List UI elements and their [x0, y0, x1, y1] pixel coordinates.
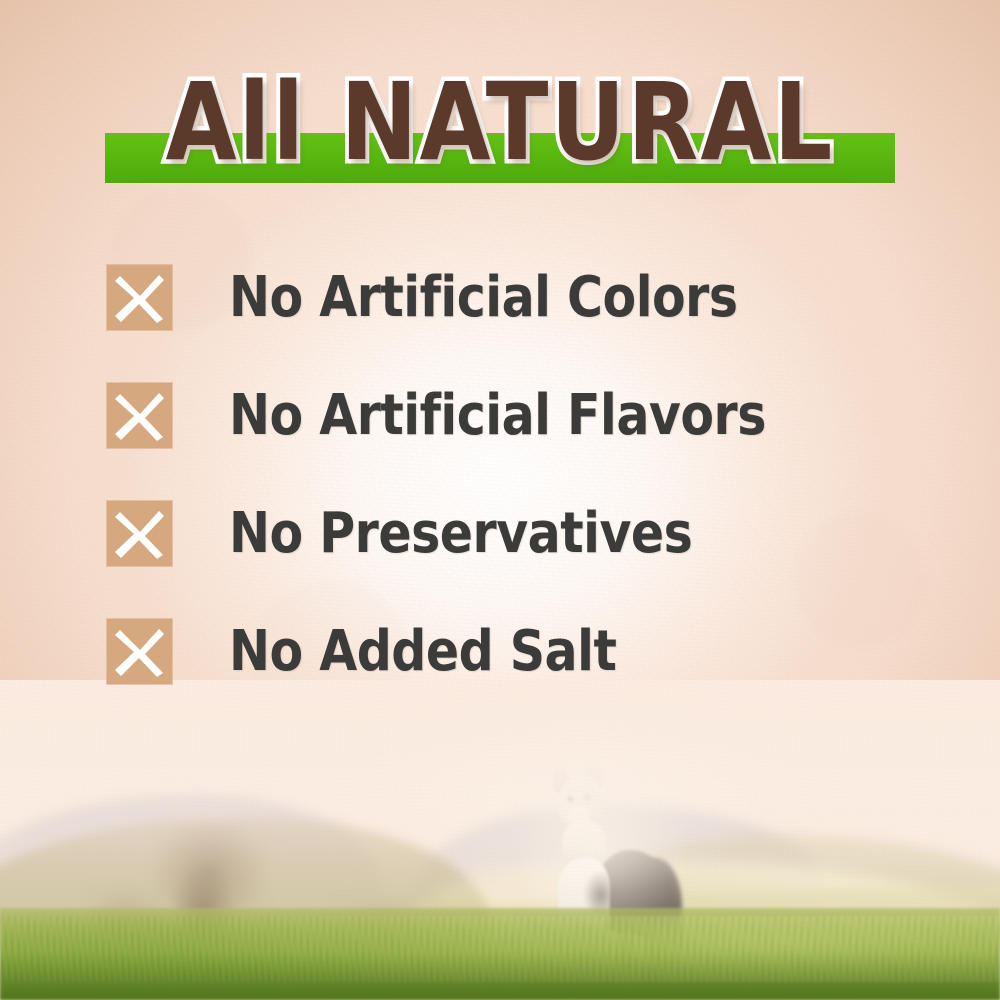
product-feature-poster: All NATURAL No Artificial Colors No Arti… [0, 0, 1000, 1000]
dog-eye-right [584, 794, 591, 800]
dog-eye-left [567, 796, 574, 802]
claims-list: No Artificial Colors No Artificial Flavo… [107, 258, 927, 730]
list-item: No Added Salt [107, 612, 927, 690]
x-mark-icon [107, 383, 172, 448]
x-mark-icon [107, 265, 172, 330]
list-item-label: No Artificial Flavors [229, 386, 766, 444]
list-item: No Artificial Colors [107, 258, 927, 336]
list-item-label: No Artificial Colors [229, 268, 738, 326]
x-mark-icon [107, 619, 172, 684]
list-item: No Artificial Flavors [107, 376, 927, 454]
x-mark-icon [107, 501, 172, 566]
list-item-label: No Preservatives [229, 504, 692, 562]
grass-shadow [0, 954, 1000, 1000]
list-item-label: No Added Salt [229, 622, 616, 680]
list-item: No Preservatives [107, 494, 927, 572]
page-title: All NATURAL [0, 64, 1000, 184]
